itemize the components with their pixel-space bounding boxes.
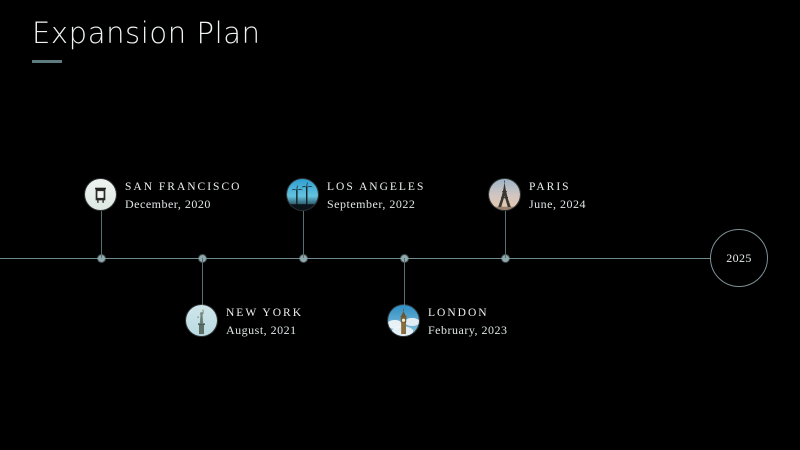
milestone-stem [202, 258, 203, 305]
milestone-stem [101, 211, 102, 258]
end-year-circle: 2025 [710, 229, 768, 287]
title-accent-bar [32, 60, 62, 63]
page-title: Expansion Plan [32, 18, 261, 50]
milestone-paris[interactable]: PARIS June, 2024 [489, 179, 586, 213]
milestone-labels: LOS ANGELES September, 2022 [327, 179, 425, 213]
milestone-labels: NEW YORK August, 2021 [226, 305, 303, 339]
milestone-labels: SAN FRANCISCO December, 2020 [125, 179, 241, 213]
palm-trees-photo-icon [287, 179, 318, 210]
golden-gate-photo-icon [85, 179, 116, 210]
milestone-date: December, 2020 [125, 196, 241, 212]
milestone-city: NEW YORK [226, 306, 303, 320]
milestone-stem [404, 258, 405, 305]
milestone-date: June, 2024 [529, 196, 586, 212]
eiffel-tower-photo-icon [489, 179, 520, 210]
title-block: Expansion Plan [32, 18, 261, 63]
milestone-date: August, 2021 [226, 322, 303, 338]
end-year-label: 2025 [726, 251, 752, 266]
milestone-london[interactable]: LONDON February, 2023 [388, 305, 508, 339]
timeline-axis [0, 258, 711, 259]
milestone-stem [505, 211, 506, 258]
milestone-date: February, 2023 [428, 322, 508, 338]
milestone-los-angeles[interactable]: LOS ANGELES September, 2022 [287, 179, 425, 213]
milestone-new-york[interactable]: NEW YORK August, 2021 [186, 305, 303, 339]
statue-of-liberty-photo-icon [186, 305, 217, 336]
milestone-city: LONDON [428, 306, 508, 320]
expansion-plan-slide: Expansion Plan 2025 [0, 0, 800, 450]
milestone-city: SAN FRANCISCO [125, 180, 241, 194]
milestone-stem [303, 211, 304, 258]
milestone-san-francisco[interactable]: SAN FRANCISCO December, 2020 [85, 179, 241, 213]
milestone-labels: LONDON February, 2023 [428, 305, 508, 339]
milestone-city: PARIS [529, 180, 586, 194]
milestone-city: LOS ANGELES [327, 180, 425, 194]
milestone-date: September, 2022 [327, 196, 425, 212]
milestone-labels: PARIS June, 2024 [529, 179, 586, 213]
big-ben-photo-icon [388, 305, 419, 336]
